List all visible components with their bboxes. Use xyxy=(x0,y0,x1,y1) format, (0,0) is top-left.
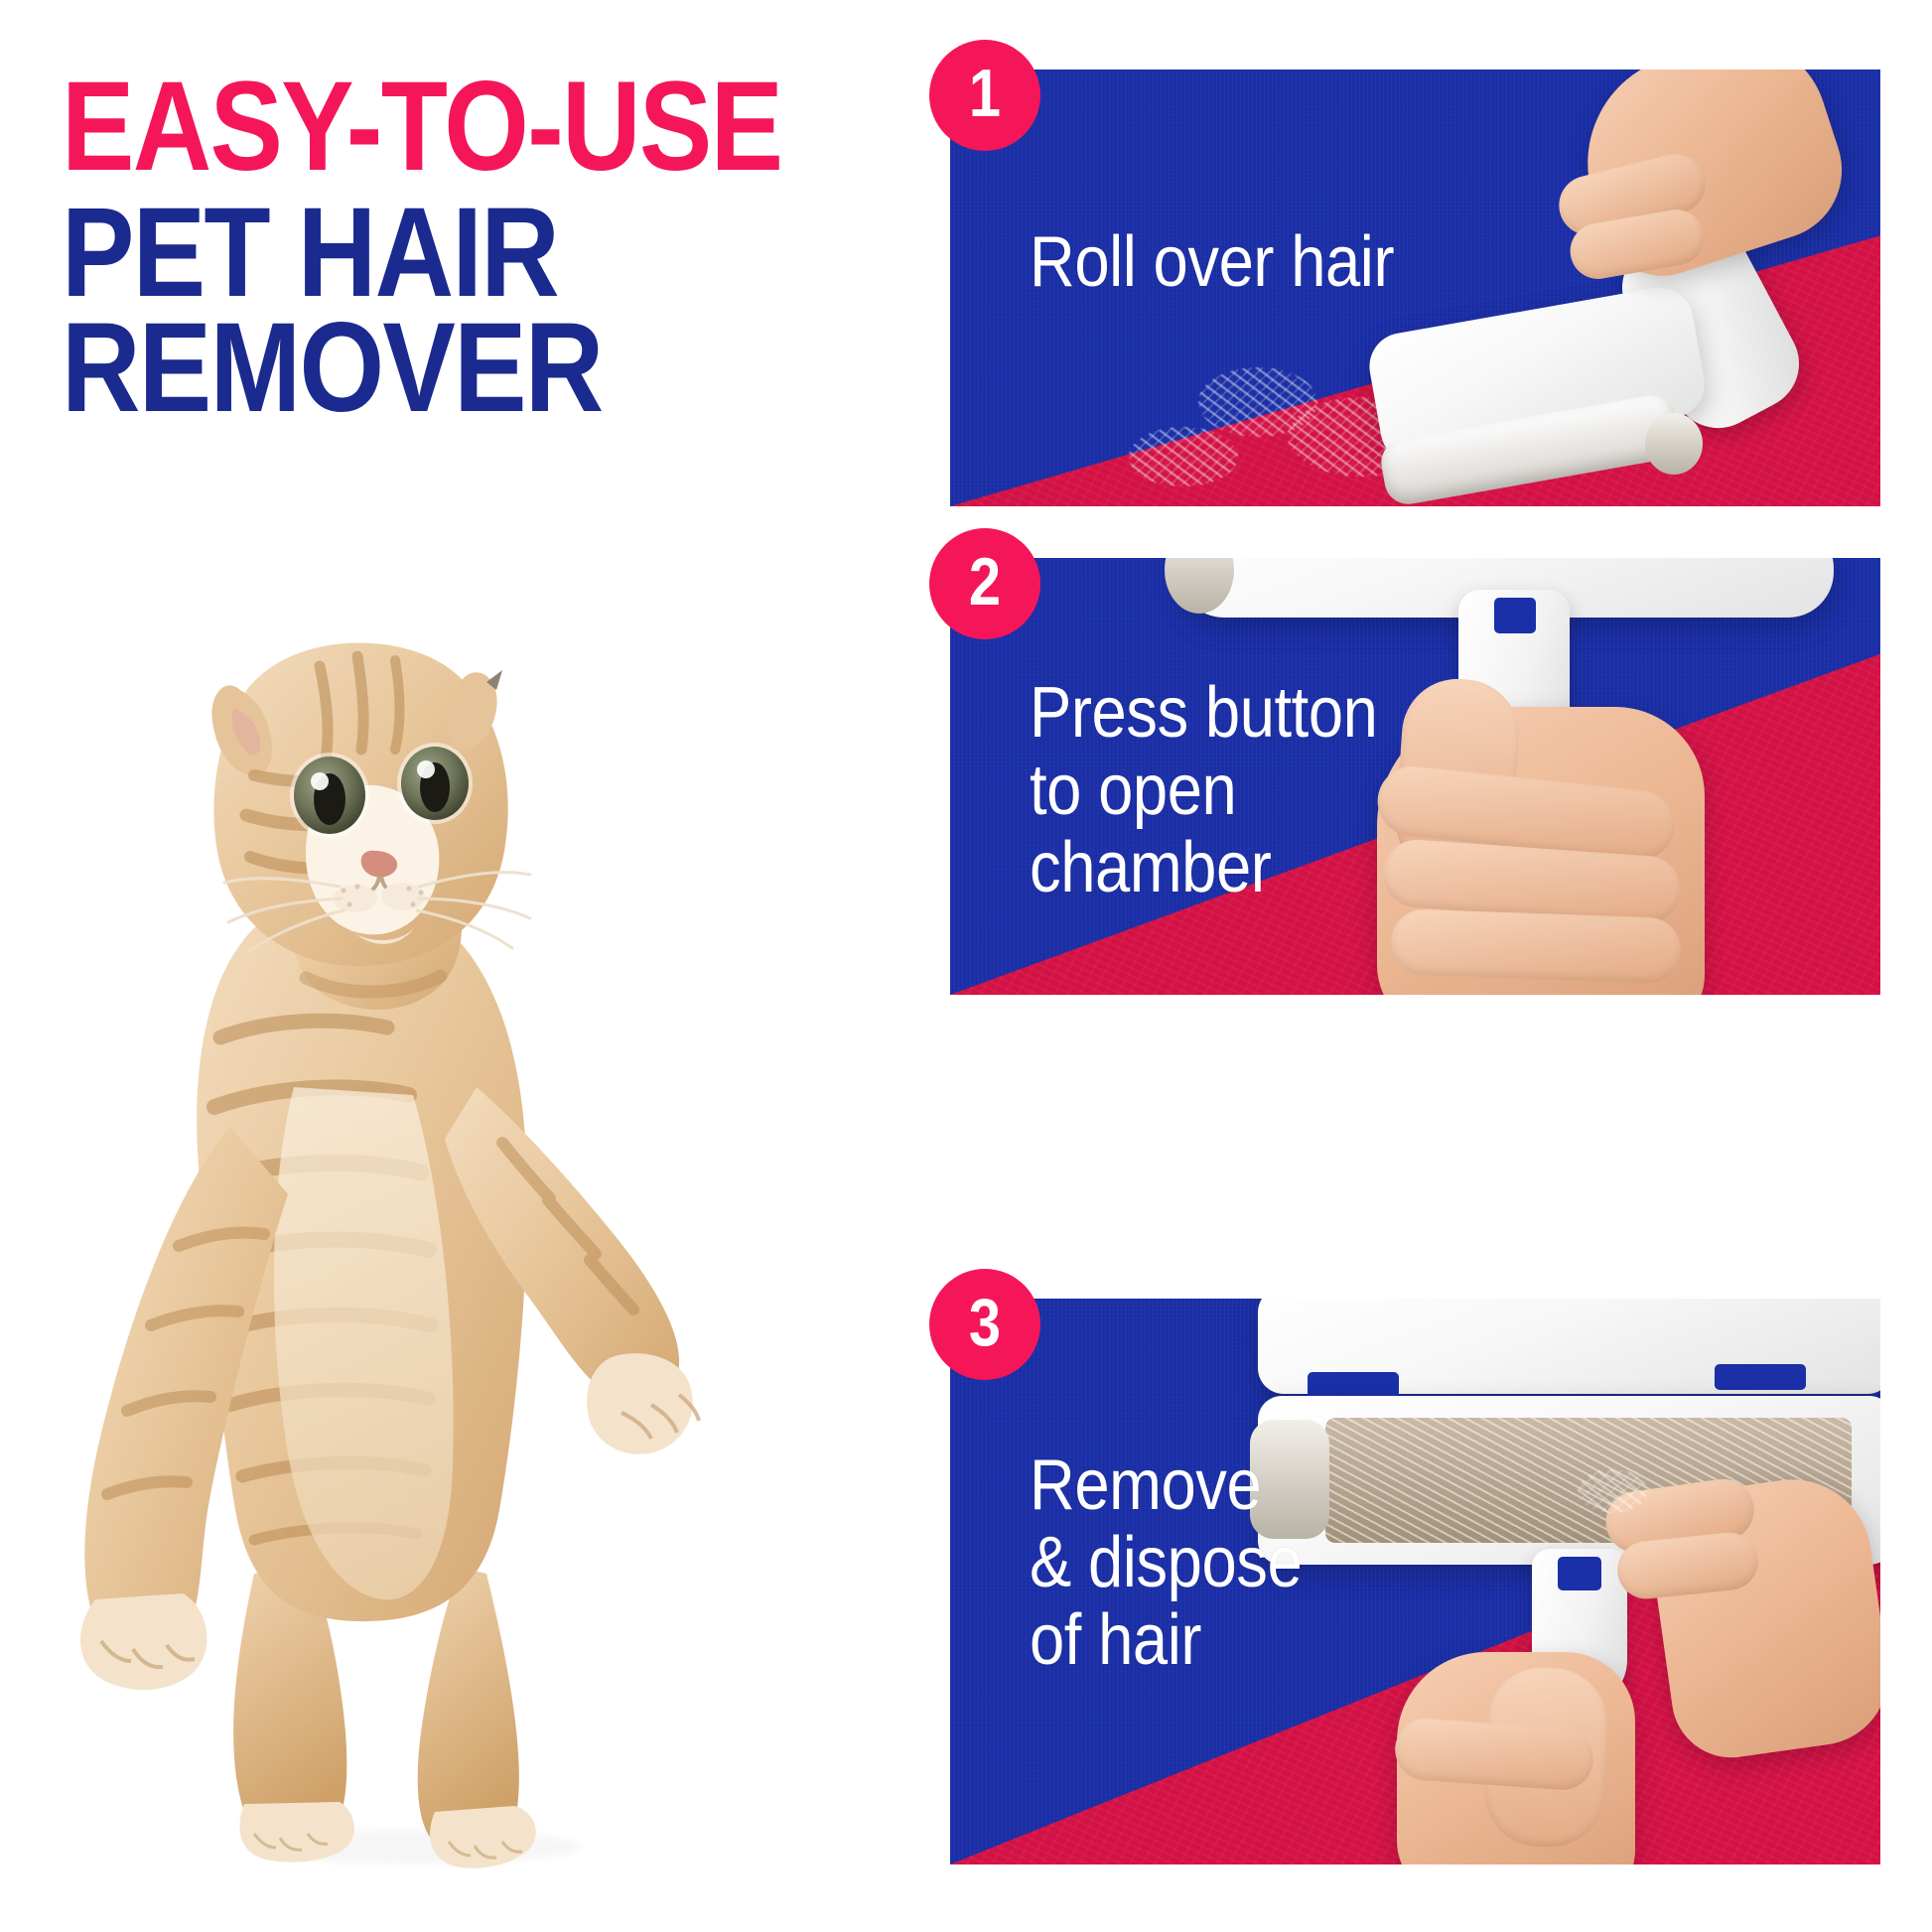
device-end-cap xyxy=(1645,413,1703,475)
step-1-number: 1 xyxy=(969,60,1001,127)
step-2-badge: 2 xyxy=(929,528,1040,639)
removed-hair-tuft xyxy=(1578,1469,1647,1513)
lid-hinge-slot xyxy=(1715,1364,1806,1390)
step-3-badge: 3 xyxy=(929,1269,1040,1380)
step-panel-2[interactable]: Press button to open chamber 2 xyxy=(950,558,1880,995)
step-3-number: 3 xyxy=(969,1289,1001,1356)
lid-hinge-slot xyxy=(1308,1372,1399,1398)
step-2-label: Press button to open chamber xyxy=(1030,675,1377,906)
hero-cat-image xyxy=(60,571,715,1871)
step-1-label: Roll over hair xyxy=(1030,224,1394,302)
cat-illustration xyxy=(60,571,715,1871)
step-panel-3[interactable]: Remove & dispose of hair 3 xyxy=(950,1299,1880,1864)
step-panel-3-art: Remove & dispose of hair xyxy=(950,1299,1880,1864)
step-panel-1-art: Roll over hair xyxy=(950,69,1880,506)
step-panel-2-art: Press button to open chamber xyxy=(950,558,1880,995)
step-3-label: Remove & dispose of hair xyxy=(1030,1448,1302,1679)
headline-line-3: REMOVER xyxy=(62,313,711,425)
release-button-slot xyxy=(1558,1557,1601,1590)
headline-line-2: PET HAIR xyxy=(62,198,711,310)
finger xyxy=(1390,908,1682,984)
release-button-slot xyxy=(1494,598,1536,633)
page-title: EASY-TO-USE PET HAIR REMOVER xyxy=(62,71,816,425)
hair-clump xyxy=(1129,427,1238,486)
step-panel-1[interactable]: Roll over hair 1 xyxy=(950,69,1880,506)
headline-line-1: EASY-TO-USE xyxy=(62,71,711,184)
step-1-badge: 1 xyxy=(929,40,1040,151)
step-2-number: 2 xyxy=(969,548,1001,616)
